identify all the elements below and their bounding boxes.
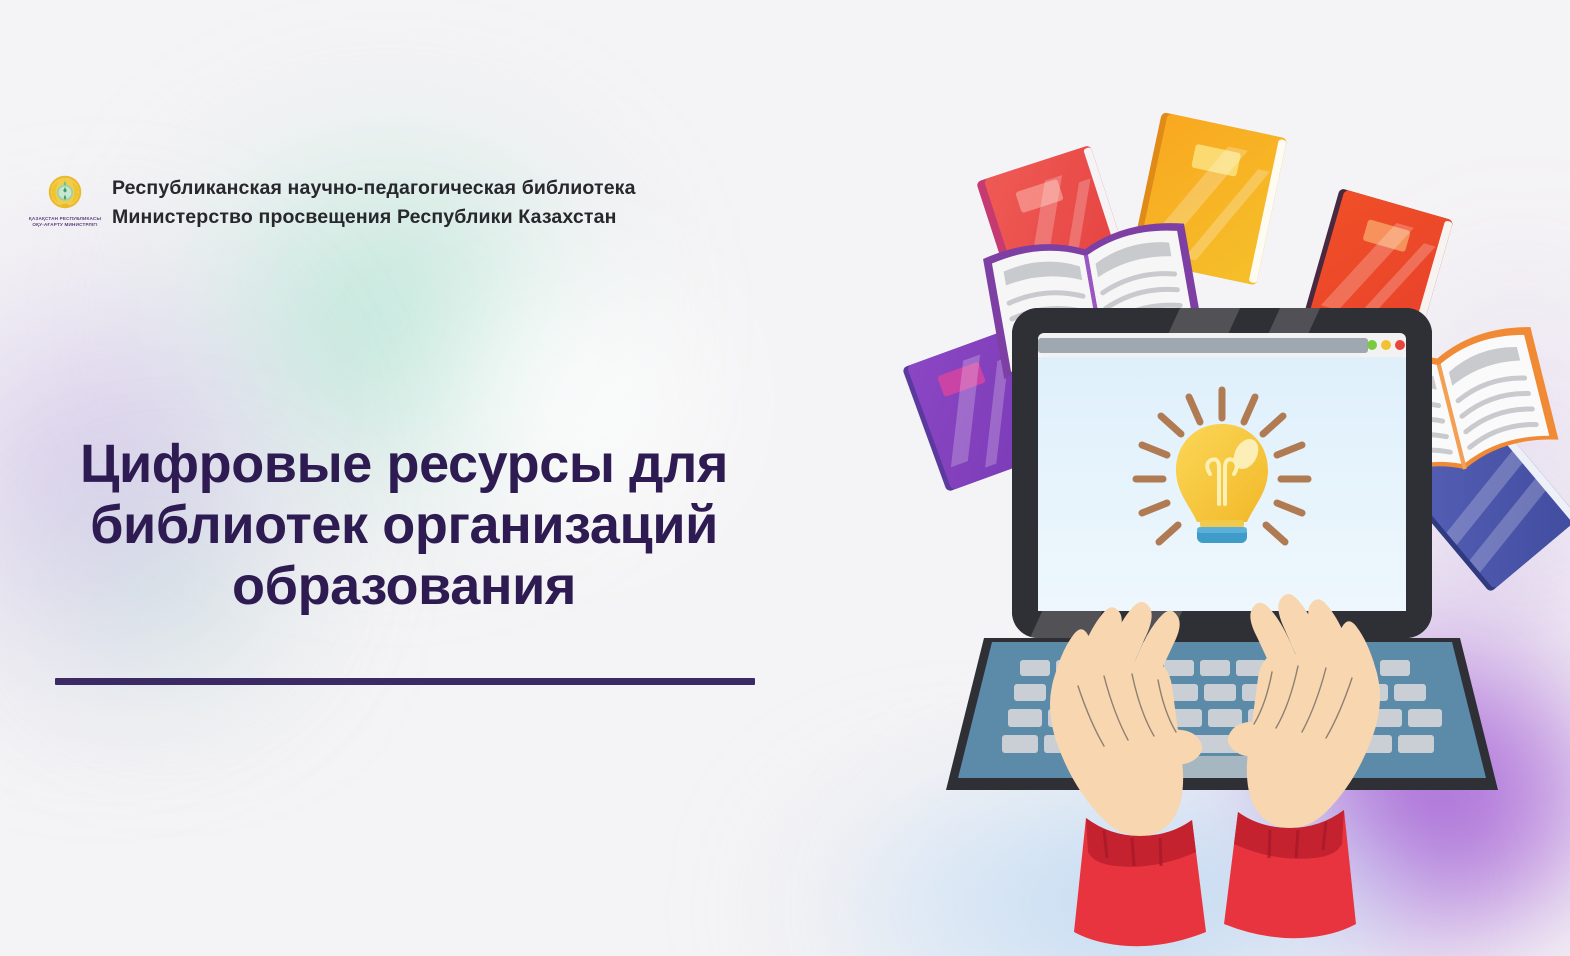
- kazakhstan-state-emblem-icon: [45, 172, 85, 212]
- browser-dot-yellow-icon: [1381, 340, 1391, 350]
- browser-dot-red-icon: [1395, 340, 1405, 350]
- page-title-line-2: библиотек организаций: [42, 495, 766, 556]
- brand-text: Республиканская научно-педагогическая би…: [112, 166, 636, 232]
- page-title-line-3: образования: [42, 556, 766, 617]
- page-title-line-1: Цифровые ресурсы для: [42, 434, 766, 495]
- emblem-caption: ҚАЗАҚСТАН РЕСПУБЛИКАСЫ ОҚУ-АҒАРТУ МИНИСТ…: [29, 216, 101, 228]
- page-title: Цифровые ресурсы для библиотек организац…: [42, 434, 766, 617]
- laptop-icon: [946, 308, 1498, 790]
- slide-root: ҚАЗАҚСТАН РЕСПУБЛИКАСЫ ОҚУ-АҒАРТУ МИНИСТ…: [0, 0, 1570, 956]
- brand-line-2: Министерство просвещения Республики Каза…: [112, 203, 636, 232]
- brand-line-1: Республиканская научно-педагогическая би…: [112, 174, 636, 203]
- laptop-books-illustration: [880, 90, 1570, 956]
- browser-dot-green-icon: [1367, 340, 1377, 350]
- brand-header: ҚАЗАҚСТАН РЕСПУБЛИКАСЫ ОҚУ-АҒАРТУ МИНИСТ…: [34, 166, 636, 232]
- emblem-block: ҚАЗАҚСТАН РЕСПУБЛИКАСЫ ОҚУ-АҒАРТУ МИНИСТ…: [34, 166, 96, 228]
- title-underline-rule: [55, 678, 755, 685]
- illustration-svg: [880, 90, 1570, 956]
- emblem-caption-line2: ОҚУ-АҒАРТУ МИНИСТРЛІГІ: [29, 222, 101, 228]
